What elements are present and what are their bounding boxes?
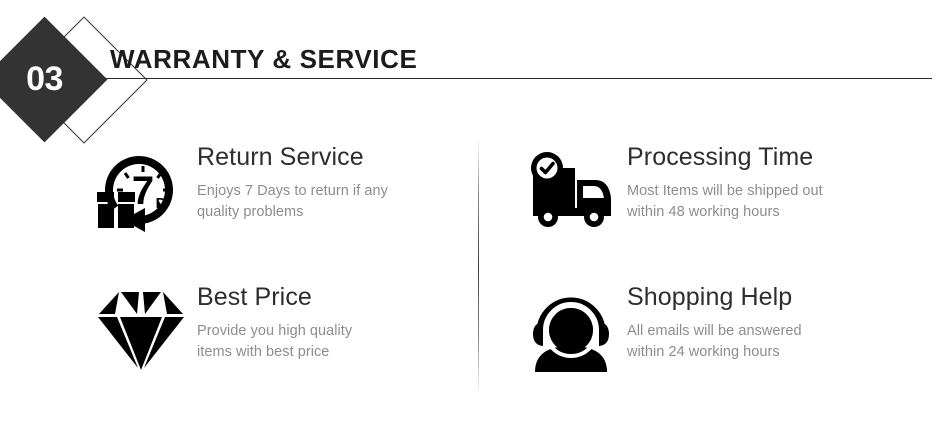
feature-subtitle-line2: within 48 working hours xyxy=(627,202,823,223)
feature-item-return-service: 7 D Return Service Enjoys 7 Days to retu… xyxy=(85,140,515,265)
feature-subtitle-line2: quality problems xyxy=(197,202,388,223)
feature-title: Return Service xyxy=(197,144,388,172)
feature-subtitle: Most Items will be shipped out within 48… xyxy=(627,181,823,223)
feature-subtitle-line1: Most Items will be shipped out xyxy=(627,181,823,202)
svg-text:D: D xyxy=(156,195,167,212)
feature-title: Best Price xyxy=(197,284,352,312)
feature-item-best-price: Best Price Provide you high quality item… xyxy=(85,280,515,405)
feature-subtitle: All emails will be answered within 24 wo… xyxy=(627,321,802,363)
delivery-truck-check-icon xyxy=(515,140,627,240)
headset-support-agent-icon xyxy=(515,280,627,380)
feature-subtitle-line2: items with best price xyxy=(197,342,352,363)
feature-text-block: Best Price Provide you high quality item… xyxy=(197,280,352,363)
feature-item-shopping-help: Shopping Help All emails will be answere… xyxy=(515,280,945,405)
feature-subtitle-line2: within 24 working hours xyxy=(627,342,802,363)
feature-grid: 7 D Return Service Enjoys 7 Days to retu… xyxy=(0,132,950,402)
feature-title: Processing Time xyxy=(627,144,823,172)
section-header: 03 WARRANTY & SERVICE xyxy=(0,0,950,130)
feature-subtitle-line1: Provide you high quality xyxy=(197,321,352,342)
header-divider-rule xyxy=(103,78,932,79)
svg-text:7: 7 xyxy=(132,169,154,213)
feature-subtitle: Provide you high quality items with best… xyxy=(197,321,352,363)
seven-days-return-clock-gift-icon: 7 D xyxy=(85,140,197,240)
feature-text-block: Return Service Enjoys 7 Days to return i… xyxy=(197,140,388,223)
feature-title: Shopping Help xyxy=(627,284,802,312)
feature-text-block: Shopping Help All emails will be answere… xyxy=(627,280,802,363)
warranty-service-banner: 03 WARRANTY & SERVICE xyxy=(0,0,950,428)
feature-text-block: Processing Time Most Items will be shipp… xyxy=(627,140,823,223)
feature-item-processing-time: Processing Time Most Items will be shipp… xyxy=(515,140,945,265)
page-title: WARRANTY & SERVICE xyxy=(110,44,417,75)
section-number-label: 03 xyxy=(0,35,89,124)
feature-subtitle-line1: All emails will be answered xyxy=(627,321,802,342)
feature-subtitle-line1: Enjoys 7 Days to return if any xyxy=(197,181,388,202)
feature-subtitle: Enjoys 7 Days to return if any quality p… xyxy=(197,181,388,223)
diamond-gem-icon xyxy=(85,280,197,380)
